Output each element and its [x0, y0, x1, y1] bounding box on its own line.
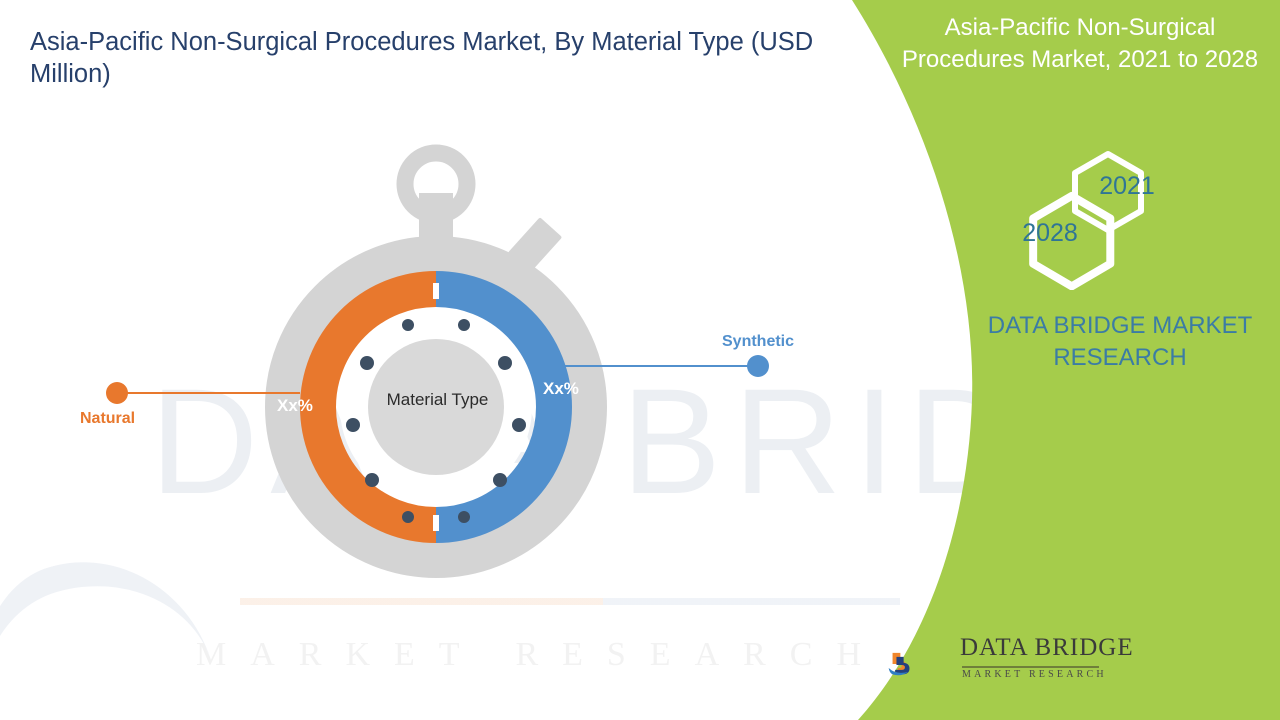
hexagon-2028-label: 2028 [1008, 219, 1092, 248]
dbmr-logo: DATA BRIDGE MARKET RESEARCH [888, 626, 1103, 706]
donut-center-label: Material Type [350, 390, 525, 410]
series-value-synthetic: Xx% [543, 379, 579, 399]
series-label-natural: Natural [80, 410, 135, 428]
dbmr-logo-mark [888, 626, 958, 702]
series-value-natural: Xx% [277, 396, 313, 416]
donut-chart [230, 135, 650, 580]
dbmr-logo-subname: MARKET RESEARCH [962, 669, 1107, 680]
brand-name-text: DATA BRIDGE MARKET RESEARCH [960, 310, 1280, 375]
dbmr-logo-name: DATA BRIDGE [960, 634, 1134, 662]
stopwatch-crown-icon [405, 153, 467, 241]
dbmr-logo-rule [962, 666, 1099, 668]
hexagon-badge-group [980, 140, 1190, 290]
infographic-canvas: DATA BRIDGE MARKET RESEARCH Asia-Pacific… [0, 0, 1280, 720]
panel-title: Asia-Pacific Non-Surgical Procedures Mar… [880, 12, 1280, 77]
page-title: Asia-Pacific Non-Surgical Procedures Mar… [30, 27, 860, 91]
series-label-synthetic: Synthetic [722, 333, 794, 351]
hexagon-2021-label: 2021 [1085, 172, 1169, 201]
